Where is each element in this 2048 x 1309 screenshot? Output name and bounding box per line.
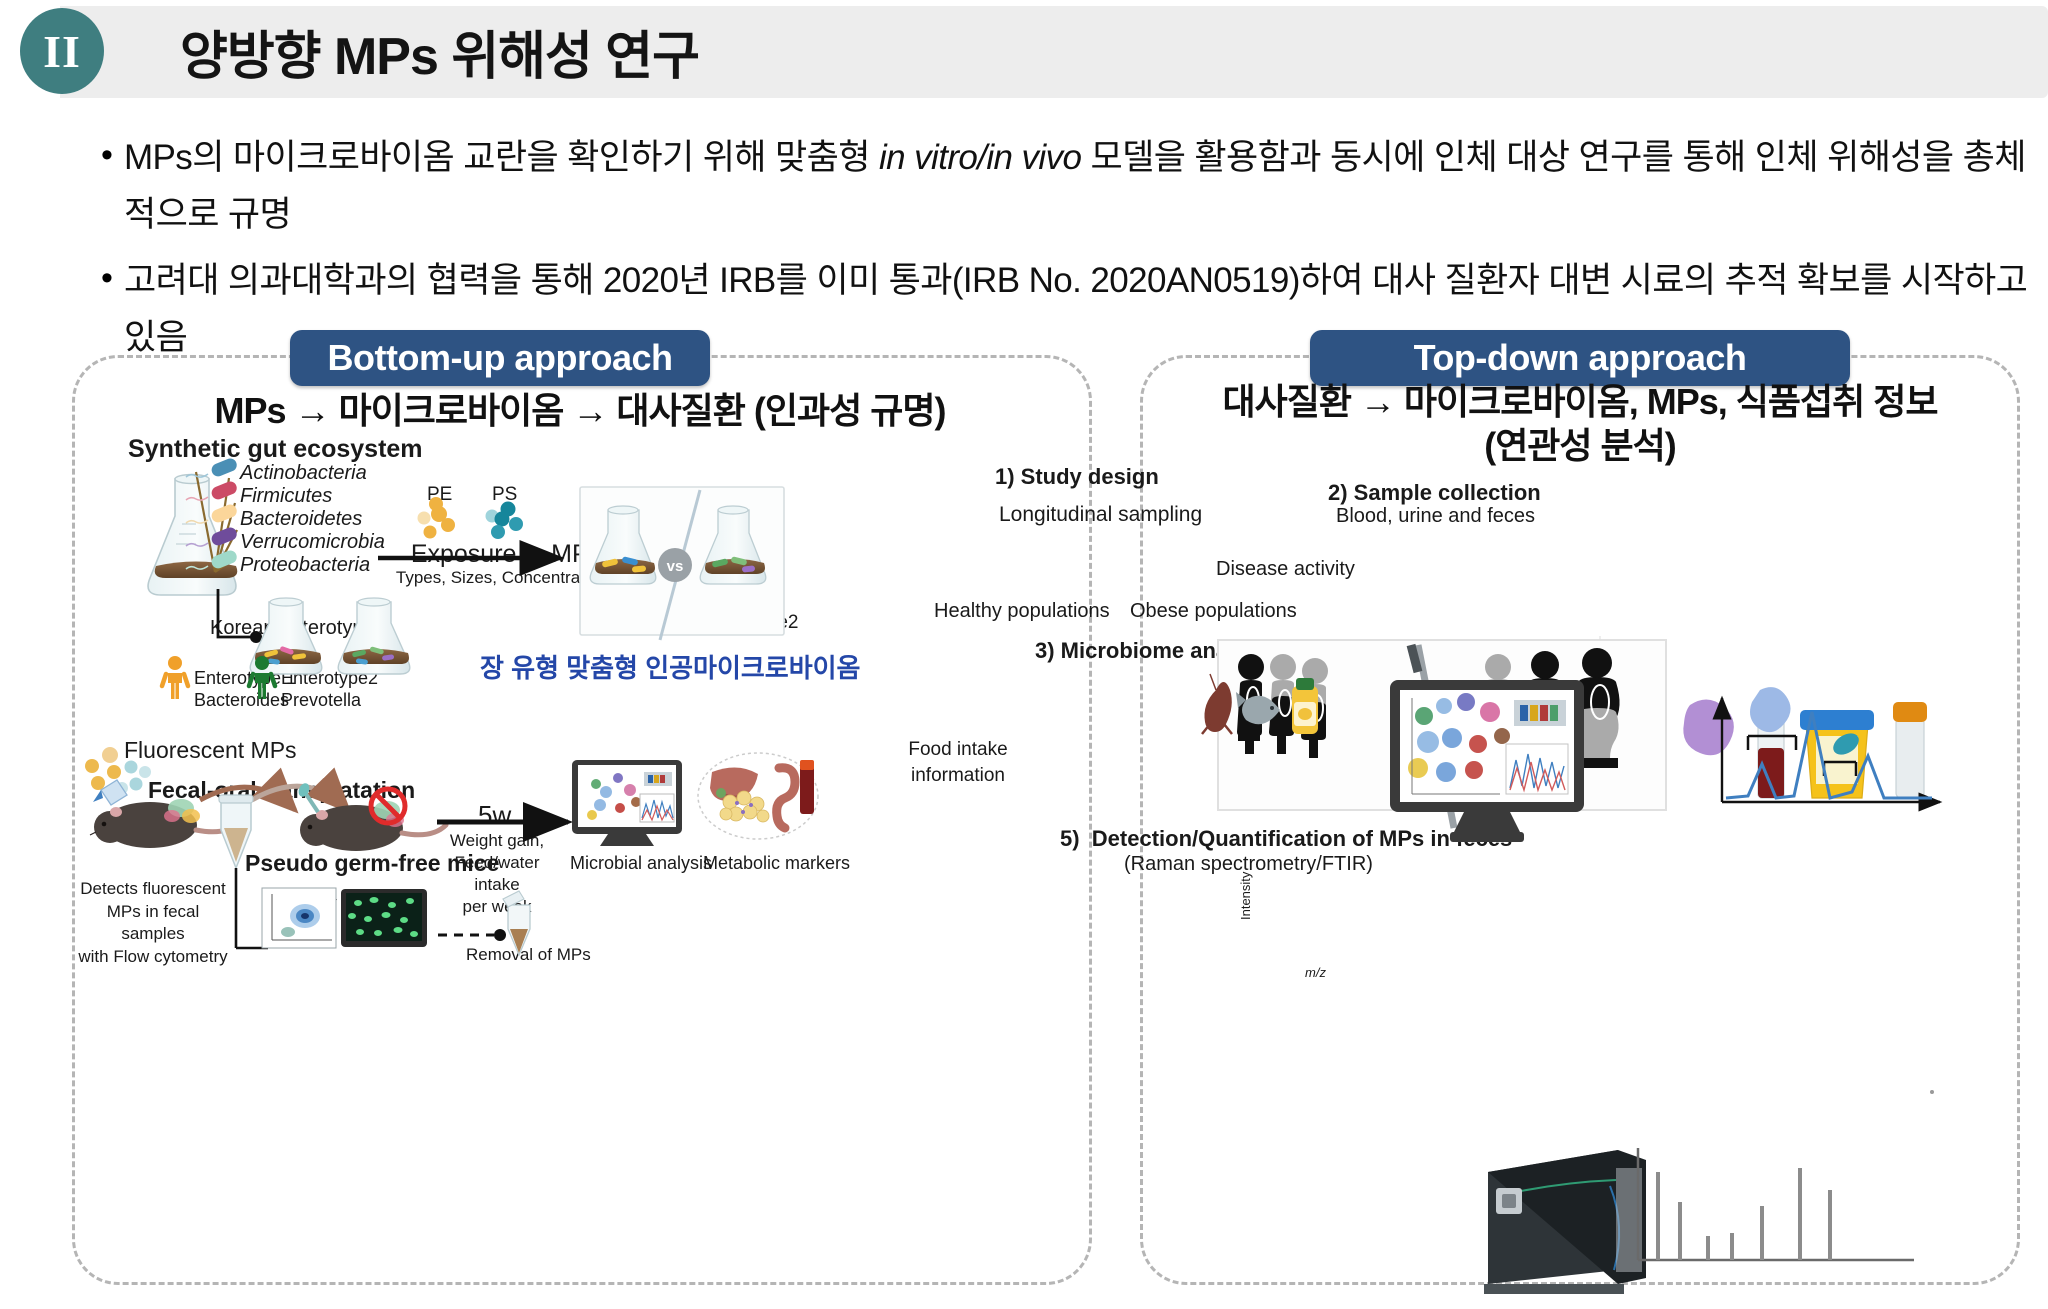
bullet-1-pre: MPs의 마이크로바이옴 교란을 확인하기 위해 맞춤형 [124,138,879,177]
flaskbox-label-enterotype-1: Enterotype 1 [586,612,694,634]
panel-top-down [1140,355,2020,1285]
step5-title: 5) Detection/Quantification of MPs in fe… [1060,826,1512,852]
taxon-label-verrucomicrobia: Verrucomicrobia [240,531,385,554]
duration-sublabel: Weight gain, Feed/water intake per week [432,830,562,918]
obese-populations-label: Obese populations [1130,600,1297,623]
exposure-sublabel: Types, Sizes, Concentrations [366,568,646,588]
list-item: • MPs의 마이크로바이옴 교란을 확인하기 위해 맞춤형 in vitro/… [90,130,2030,243]
synthetic-gut-ecosystem-title: Synthetic gut ecosystem [128,435,423,464]
panel-bottom-up [72,355,1092,1285]
detect-note: Detects fluorescent MPs in fecal samples… [78,878,228,968]
taxon-label-actinobacteria: Actinobacteria [240,462,367,485]
mp-type-label-pe: PE [427,484,452,506]
taxon-label-firmicutes: Firmicutes [240,485,332,508]
step4-title: 4) Identification of metabolites [1282,638,1600,664]
mp-type-label-ps: PS [492,484,517,506]
step4-subtitle: (NMR/ LC-MS/MS) [1337,665,1505,688]
longitudinal-sampling-label: Longitudinal sampling [999,503,1202,527]
enterotype-2-name: Enterotype2 [281,668,378,689]
exposure-label: Exposure to MPs [386,540,626,569]
taxon-label-proteobacteria: Proteobacteria [240,554,370,577]
subtitle-top-down: 대사질환 → 마이크로바이옴, MPs, 식품섭취 정보 (연관성 분석) [1150,380,2010,468]
bullet-marker: • [90,130,124,180]
microbial-analysis-label: Microbial analysis [570,853,712,874]
spectrum-ylabel: Intensity [1238,872,1253,920]
step1-title: 1) Study design [995,464,1159,490]
subtitle-top-down-line2: (연관성 분석) [1150,424,2010,468]
enterotype-1-genus: Bacteroides [194,690,289,711]
metabolic-markers-label: Metabolic markers [703,853,850,874]
disease-activity-label: Disease activity [1216,558,1355,581]
food-intake-label: Food intake information [903,737,1013,788]
spectrum-xlabel: m/z [1305,965,1326,980]
subtitle-top-down-line1: 대사질환 → 마이크로바이옴, MPs, 식품섭취 정보 [1150,380,2010,424]
taxon-label-bacteroidetes: Bacteroidetes [240,508,362,531]
healthy-populations-label: Healthy populations [934,600,1110,623]
step3-title: 3) Microbiome analysis [1035,638,1277,664]
duration-label: 5w [478,800,511,831]
subtitle-bottom-up: MPs → 마이크로바이옴 → 대사질환 (인과성 규명) [90,382,1070,434]
bullet-text-1: MPs의 마이크로바이옴 교란을 확인하기 위해 맞춤형 in vitro/in… [124,130,2030,243]
korean-enterotypes-label: Korean enterotypes [210,617,385,640]
pill-bottom-up: Bottom-up approach [290,330,710,386]
step2-subtitle: Blood, urine and feces [1336,505,1535,528]
removal-of-mps-label: Removal of MPs [466,945,591,965]
fecal-oral-transplantation-label: Fecal-oral transplatation [148,777,415,804]
bullet-marker: • [90,253,124,303]
fluorescent-mps-label: Fluorescent MPs [124,737,297,764]
section-badge: II [20,8,104,94]
blue-caption: 장 유형 맞춤형 인공마이크로바이옴 [480,648,860,685]
enterotype-2-genus: Prevotella [281,690,361,711]
page-title: 양방향 MPs 위해성 연구 [180,14,699,89]
flow-cytometry-label: Flow cytometry [290,898,337,905]
step2-title: 2) Sample collection [1328,480,1541,506]
bullet-1-italic: in vitro/in vivo [879,138,1081,177]
flaskbox-label-enterotype-2: Enterotype2 [696,612,798,634]
pill-top-down: Top-down approach [1310,330,1850,386]
